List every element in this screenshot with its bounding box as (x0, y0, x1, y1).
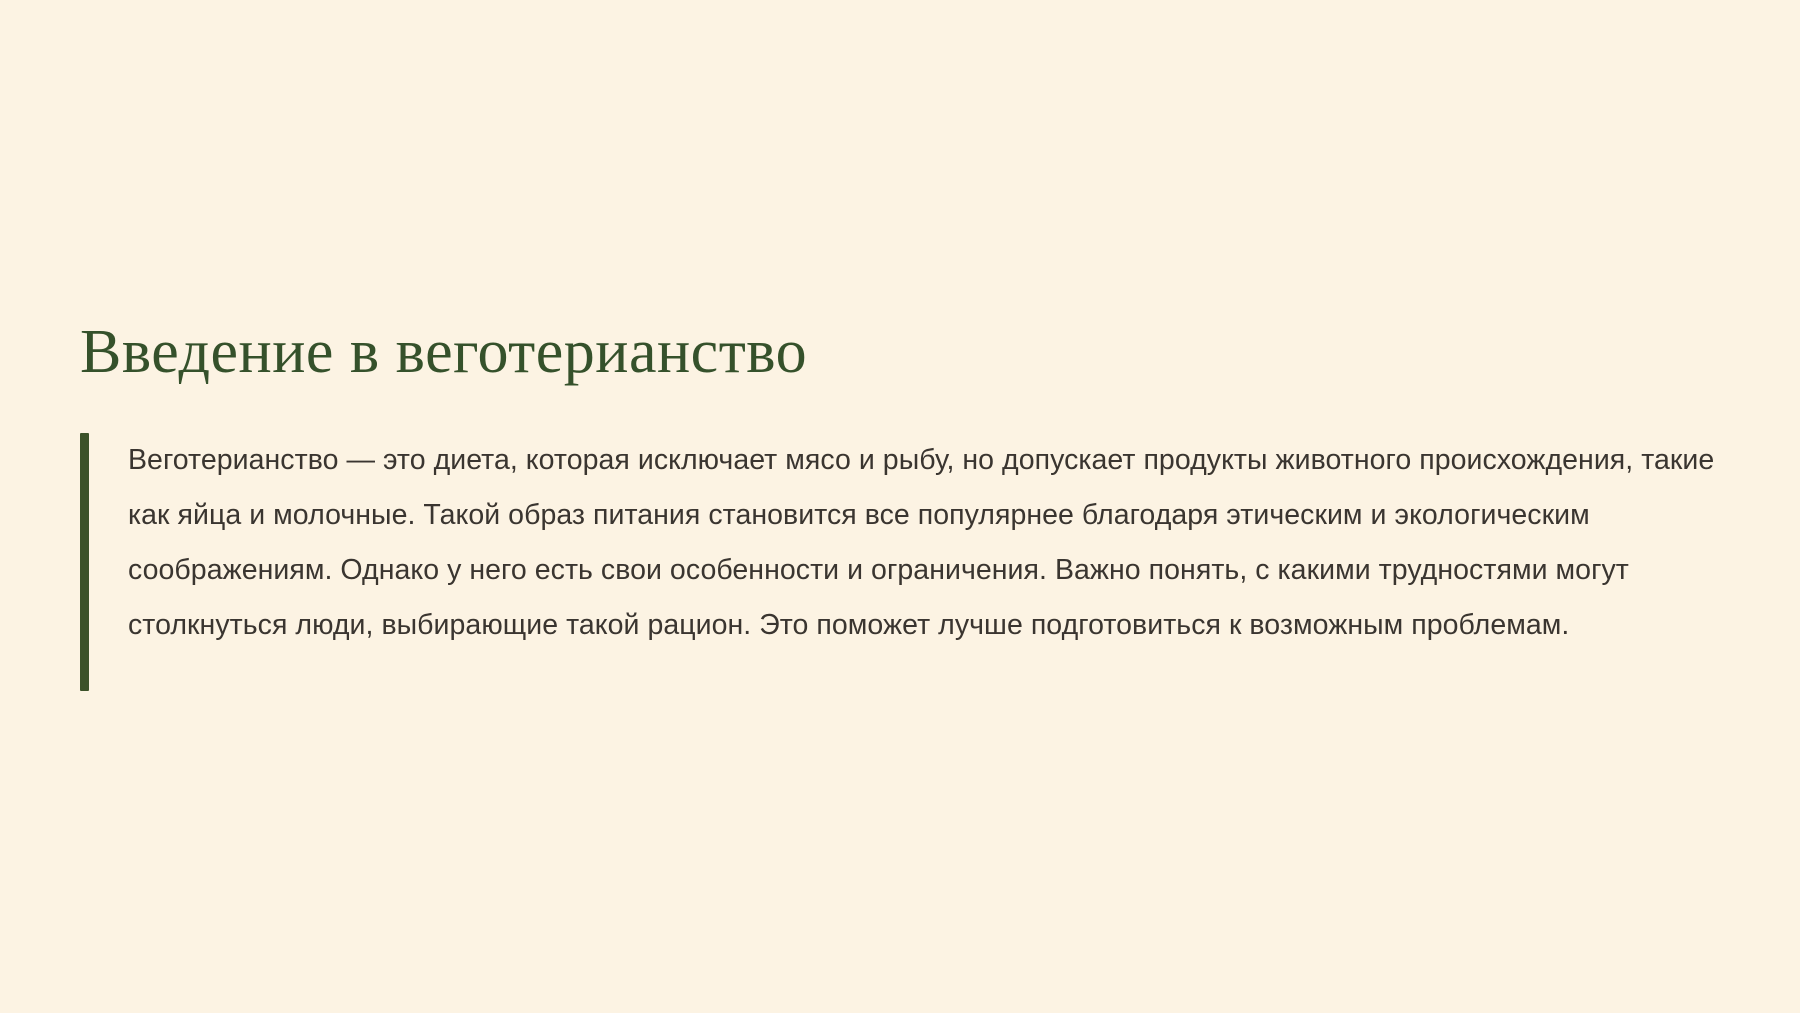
page-title: Введение в веготерианство (80, 318, 1740, 387)
accent-bar (80, 433, 89, 691)
slide-content: Введение в веготерианство Веготерианство… (80, 318, 1740, 691)
slide-canvas: Введение в веготерианство Веготерианство… (0, 0, 1800, 1013)
quote-paragraph: Веготерианство — это диета, которая искл… (128, 433, 1740, 653)
quote-block: Веготерианство — это диета, которая искл… (80, 433, 1740, 691)
